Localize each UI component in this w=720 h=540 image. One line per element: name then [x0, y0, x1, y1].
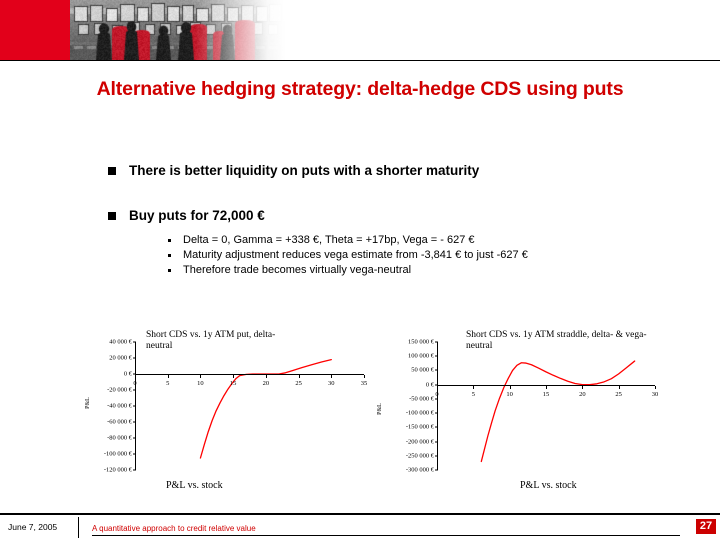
chart-plot-area	[437, 342, 655, 470]
sub-bullet-label: Maturity adjustment reduces vega estimat…	[183, 248, 528, 262]
bullet-item: Buy puts for 72,000 €	[108, 208, 265, 223]
header-divider	[0, 60, 720, 61]
y-tick-label: -120 000 €	[104, 467, 132, 474]
x-tick-mark	[331, 375, 332, 378]
y-tick-label: 150 000 €	[408, 339, 434, 346]
sub-bullet-label: Delta = 0, Gamma = +338 €, Theta = +17bp…	[183, 233, 475, 247]
small-square-bullet-icon	[168, 239, 171, 242]
sub-bullet-item: Therefore trade becomes virtually vega-n…	[168, 263, 528, 277]
y-tick-label: -150 000 €	[406, 424, 434, 431]
x-tick-label: 20	[579, 391, 586, 398]
x-tick-mark	[510, 386, 511, 389]
chart-x-tick-labels: 051015202530	[437, 390, 655, 402]
y-tick-label: -50 000 €	[409, 395, 434, 402]
x-axis-line	[135, 374, 364, 375]
page-number-badge: 27	[696, 519, 716, 534]
sub-bullet-label: Therefore trade becomes virtually vega-n…	[183, 263, 411, 277]
x-tick-label: 30	[328, 380, 335, 387]
photo-fade-overlay	[70, 0, 285, 60]
bullet-item: There is better liquidity on puts with a…	[108, 163, 479, 178]
x-tick-label: 30	[652, 391, 659, 398]
y-tick-label: 0 €	[124, 371, 132, 378]
small-square-bullet-icon	[168, 254, 171, 257]
x-tick-mark	[168, 375, 169, 378]
x-tick-mark	[546, 386, 547, 389]
footer-subtitle: A quantitative approach to credit relati…	[92, 524, 256, 533]
x-tick-label: 10	[197, 380, 204, 387]
bullet-label: Buy puts for 72,000 €	[129, 208, 265, 223]
small-square-bullet-icon	[168, 269, 171, 272]
x-tick-mark	[473, 386, 474, 389]
y-tick-label: 100 000 €	[408, 353, 434, 360]
bullet-label: There is better liquidity on puts with a…	[129, 163, 479, 178]
sub-bullet-item: Delta = 0, Gamma = +338 €, Theta = +17bp…	[168, 233, 528, 247]
trading-floor-photo	[70, 0, 285, 60]
x-tick-label: 15	[230, 380, 237, 387]
y-tick-label: -20 000 €	[107, 387, 132, 394]
sub-bullet-list: Delta = 0, Gamma = +338 €, Theta = +17bp…	[168, 233, 528, 278]
x-tick-label: 5	[472, 391, 475, 398]
y-tick-label: -100 000 €	[406, 410, 434, 417]
y-axis-line	[437, 342, 438, 470]
y-tick-label: 50 000 €	[411, 367, 434, 374]
x-tick-label: 25	[615, 391, 622, 398]
chart-curve	[135, 342, 364, 470]
x-tick-mark	[437, 386, 438, 389]
x-tick-label: 10	[506, 391, 513, 398]
x-tick-label: 0	[133, 380, 136, 387]
x-tick-mark	[364, 375, 365, 378]
x-tick-mark	[619, 386, 620, 389]
chart-x-tick-labels: 05101520253035	[135, 379, 364, 391]
chart-delta-vega-neutral-straddle: Short CDS vs. 1y ATM straddle, delta- & …	[378, 328, 678, 500]
x-tick-mark	[299, 375, 300, 378]
y-tick-label: -200 000 €	[406, 438, 434, 445]
chart-y-axis-label: P&L	[377, 403, 383, 415]
x-tick-label: 25	[295, 380, 302, 387]
chart-y-tick-labels: 40 000 €20 000 €0 €-20 000 €-40 000 €-60…	[88, 342, 132, 470]
x-tick-label: 0	[435, 391, 438, 398]
x-tick-label: 35	[361, 380, 368, 387]
footer-date: June 7, 2005	[8, 522, 57, 532]
y-tick-label: -40 000 €	[107, 403, 132, 410]
x-tick-mark	[655, 386, 656, 389]
y-tick-label: 40 000 €	[109, 339, 132, 346]
x-tick-label: 5	[166, 380, 169, 387]
chart-plot-area	[135, 342, 364, 470]
chart-y-tick-labels: 150 000 €100 000 €50 000 €0 €-50 000 €-1…	[386, 342, 434, 470]
chart-curve	[437, 342, 655, 470]
footer-divider	[0, 513, 720, 515]
y-tick-label: -100 000 €	[104, 451, 132, 458]
y-tick-label: 0 €	[426, 381, 434, 388]
footer-vertical-divider	[78, 517, 79, 538]
y-tick-label: -80 000 €	[107, 435, 132, 442]
y-tick-label: -300 000 €	[406, 467, 434, 474]
x-tick-mark	[200, 375, 201, 378]
sub-bullet-item: Maturity adjustment reduces vega estimat…	[168, 248, 528, 262]
square-bullet-icon	[108, 167, 116, 175]
x-tick-mark	[233, 375, 234, 378]
x-tick-mark	[266, 375, 267, 378]
page-title: Alternative hedging strategy: delta-hedg…	[0, 78, 720, 101]
chart-x-axis-label: P&L vs. stock	[520, 480, 577, 491]
y-tick-label: -250 000 €	[406, 452, 434, 459]
slide: Alternative hedging strategy: delta-hedg…	[0, 0, 720, 540]
chart-delta-neutral-put: Short CDS vs. 1y ATM put, delta-neutral …	[88, 328, 378, 500]
footer-underline	[92, 535, 680, 536]
x-tick-label: 15	[543, 391, 550, 398]
y-tick-label: 20 000 €	[109, 355, 132, 362]
x-tick-mark	[135, 375, 136, 378]
x-tick-label: 20	[263, 380, 270, 387]
square-bullet-icon	[108, 212, 116, 220]
y-axis-line	[135, 342, 136, 470]
header-red-block	[0, 0, 70, 60]
slide-header	[0, 0, 720, 60]
x-tick-mark	[582, 386, 583, 389]
chart-x-axis-label: P&L vs. stock	[166, 480, 223, 491]
y-tick-label: -60 000 €	[107, 419, 132, 426]
